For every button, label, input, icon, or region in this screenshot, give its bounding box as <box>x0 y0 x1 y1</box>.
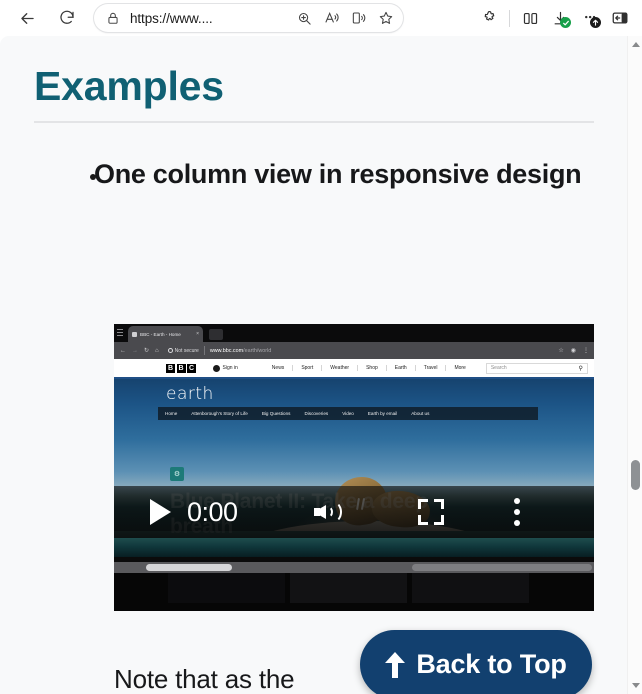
embedded-hamburger-icon <box>117 329 123 336</box>
embedded-url-host: www.bbc.com <box>210 348 243 354</box>
split-screen-button[interactable] <box>515 4 545 32</box>
page-viewport: Examples One column view in responsive d… <box>0 36 642 694</box>
title-divider <box>34 121 594 123</box>
embedded-tab-strip: BBC - Earth - Home × <box>114 324 594 342</box>
extensions-button[interactable] <box>474 4 504 32</box>
embedded-security-label[interactable]: Not secure <box>168 348 199 354</box>
play-icon[interactable] <box>150 499 171 525</box>
fullscreen-icon[interactable] <box>418 499 444 525</box>
bbc-nav-item-news[interactable]: News <box>264 365 294 371</box>
read-aloud-icon <box>324 10 340 26</box>
bbc-nav-item-weather[interactable]: Weather <box>322 365 358 371</box>
add-favorite-button[interactable] <box>372 6 399 30</box>
earth-nav-item-big-questions[interactable]: Big Questions <box>255 411 298 416</box>
earth-nav-item-about-us[interactable]: About us <box>404 411 436 416</box>
bbc-logo[interactable]: B B C <box>166 364 198 373</box>
bbc-logo-letter: C <box>187 364 196 373</box>
back-arrow-icon <box>18 9 37 28</box>
page-scrollbar[interactable] <box>627 36 642 694</box>
video-controls-bar: 0:00 <box>114 486 594 538</box>
embedded-home-icon[interactable]: ⌂ <box>155 348 159 354</box>
embedded-new-tab-button[interactable] <box>209 329 223 340</box>
toolbar-divider <box>509 10 510 27</box>
downloads-button[interactable] <box>545 4 575 32</box>
bbc-nav-item-shop[interactable]: Shop <box>358 365 387 371</box>
arrow-up-icon <box>591 18 600 27</box>
earth-nav-item-attenboroughs-story-of-life[interactable]: Attenborough's Story of Life <box>184 411 255 416</box>
page-title: Examples <box>34 63 224 110</box>
download-complete-badge <box>560 17 571 28</box>
embedded-content-cards <box>114 573 594 611</box>
immersive-reader-icon <box>351 10 367 26</box>
earth-nav-item-video[interactable]: Video <box>335 411 361 416</box>
embedded-back-icon[interactable]: ← <box>120 348 126 354</box>
earth-nav-item-discoveries[interactable]: Discoveries <box>297 411 335 416</box>
embedded-horizontal-scrollbar[interactable] <box>114 562 594 573</box>
profile-icon <box>213 365 220 372</box>
video-player-screenshot[interactable]: BBC - Earth - Home × ← → ↻ ⌂ Not secure … <box>114 324 594 611</box>
arrow-up-icon <box>385 652 405 678</box>
embedded-address-bar[interactable]: ← → ↻ ⌂ Not secure www.bbc.com/earth/wor… <box>114 342 594 359</box>
embedded-profile-icon[interactable]: ◉ <box>571 347 576 354</box>
browser-back-button[interactable] <box>10 3 44 33</box>
browser-reload-button[interactable] <box>50 3 84 33</box>
embedded-address-actions: ☆ ◉ ⋮ <box>551 347 594 354</box>
earth-nav-item-home[interactable]: Home <box>158 411 184 416</box>
page-canvas: Examples One column view in responsive d… <box>0 36 627 694</box>
earth-nav-item-earth-by-email[interactable]: Earth by email <box>361 411 404 416</box>
embedded-reload-icon[interactable]: ↻ <box>144 347 149 354</box>
site-information-button[interactable] <box>100 6 126 30</box>
list-item-label: One column view in responsive design <box>94 159 581 189</box>
zoom-button[interactable] <box>291 6 318 30</box>
bullet-dot-icon <box>90 174 96 180</box>
bbc-global-nav: B B C Sign in News Sport Weather Shop Ea… <box>114 359 594 377</box>
bbc-search-placeholder: Search <box>491 365 507 371</box>
bbc-nav-item-earth[interactable]: Earth <box>387 365 416 371</box>
star-icon <box>378 10 394 26</box>
info-circle-icon <box>168 348 173 353</box>
bbc-sign-in-label: Sign in <box>223 365 238 371</box>
embedded-url-path: /earth/world <box>243 348 271 354</box>
bbc-nav-links: News Sport Weather Shop Earth Travel Mor… <box>264 365 474 371</box>
examples-list: One column view in responsive design <box>34 151 594 198</box>
embedded-tab-title: BBC - Earth - Home <box>140 332 196 337</box>
sidebar-toggle-button[interactable] <box>605 4 635 32</box>
sidebar-toggle-icon <box>611 9 629 27</box>
bbc-logo-letter: B <box>177 364 186 373</box>
embedded-browser-tab[interactable]: BBC - Earth - Home × <box>128 326 203 342</box>
bbc-search-box[interactable]: Search ⚲ <box>486 363 588 374</box>
reload-icon <box>58 9 76 27</box>
paragraph-line-1: Note that as the <box>114 664 294 694</box>
embedded-card <box>412 573 529 603</box>
puzzle-extensions-icon <box>481 10 498 27</box>
settings-and-more-button[interactable] <box>575 4 605 32</box>
browser-toolbar: https://www.... <box>0 0 642 36</box>
scroll-up-arrow-icon[interactable] <box>628 37 642 52</box>
update-available-badge <box>590 17 601 28</box>
embedded-url-text[interactable]: www.bbc.com/earth/world <box>210 348 271 354</box>
bbc-nav-item-travel[interactable]: Travel <box>416 365 447 371</box>
bbc-logo-letter: B <box>166 364 175 373</box>
share-badge-icon[interactable]: ⚙ <box>170 467 184 481</box>
close-icon[interactable]: × <box>196 331 199 337</box>
embedded-card <box>290 573 407 603</box>
zoom-in-icon <box>297 11 312 26</box>
kebab-menu-icon[interactable] <box>514 498 522 526</box>
read-aloud-button[interactable] <box>318 6 345 30</box>
scroll-down-arrow-icon[interactable] <box>628 678 642 693</box>
back-to-top-label: Back to Top <box>416 649 566 680</box>
list-item: One column view in responsive design <box>34 151 594 198</box>
bbc-nav-item-more[interactable]: More <box>446 365 473 371</box>
embedded-scrollbar-thumb[interactable] <box>146 564 232 571</box>
volume-icon[interactable] <box>314 497 350 527</box>
scrollbar-thumb[interactable] <box>631 460 640 490</box>
bbc-earth-wordmark: earth <box>166 384 214 404</box>
embedded-tab-favicon <box>132 332 137 337</box>
magnifier-icon: ⚲ <box>578 365 582 372</box>
url-text[interactable]: https://www.... <box>126 11 291 26</box>
embedded-url-separator <box>204 346 205 355</box>
check-icon <box>562 19 570 27</box>
address-bar[interactable]: https://www.... <box>94 4 403 32</box>
immersive-reader-button[interactable] <box>345 6 372 30</box>
bbc-sign-in-button[interactable]: Sign in <box>210 365 238 372</box>
bbc-earth-nav: Home Attenborough's Story of Life Big Qu… <box>158 407 538 420</box>
embedded-star-icon[interactable]: ☆ <box>558 347 563 354</box>
split-screen-icon <box>522 10 539 27</box>
video-current-time: 0:00 <box>187 497 238 528</box>
embedded-kebab-menu-icon[interactable]: ⋮ <box>583 347 589 354</box>
bbc-nav-item-sport[interactable]: Sport <box>293 365 322 371</box>
embedded-forward-icon[interactable]: → <box>132 348 138 354</box>
embedded-scrollbar-track <box>412 564 592 571</box>
back-to-top-button[interactable]: Back to Top <box>360 630 592 694</box>
toolbar-right-group <box>474 4 642 32</box>
embedded-card <box>168 573 285 603</box>
lock-icon <box>106 11 120 25</box>
